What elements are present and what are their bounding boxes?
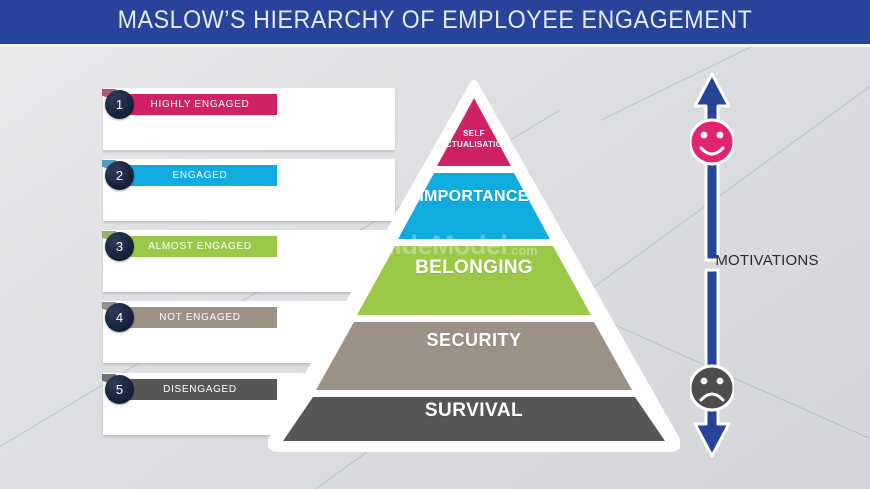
engagement-ribbon: HIGHLY ENGAGED1 — [109, 94, 277, 115]
pyramid-level-shape-4 — [316, 322, 632, 390]
page-title: MASLOW’S HIERARCHY OF EMPLOYEE ENGAGEMEN… — [30, 6, 839, 35]
engagement-row-label: NOT ENGAGED — [145, 312, 240, 323]
engagement-row-label: DISENGAGED — [149, 384, 237, 395]
arrow-down-icon — [695, 270, 729, 456]
engagement-row-label: HIGHLY ENGAGED — [137, 99, 250, 110]
engagement-row-number-badge: 2 — [105, 161, 134, 190]
slide-canvas: MASLOW’S HIERARCHY OF EMPLOYEE ENGAGEMEN… — [0, 0, 870, 489]
title-underline — [0, 44, 870, 47]
pyramid-level-belonging — [357, 246, 591, 315]
sad-face-icon — [690, 366, 734, 410]
engagement-row-number-badge: 3 — [105, 232, 134, 261]
engagement-ribbon: NOT ENGAGED4 — [109, 307, 277, 328]
engagement-row-label: ALMOST ENGAGED — [134, 241, 252, 252]
happy-face-icon — [690, 120, 734, 164]
engagement-row-number-badge: 4 — [105, 303, 134, 332]
engagement-ribbon: ENGAGED2 — [109, 165, 277, 186]
engagement-row-number-badge: 5 — [105, 375, 134, 404]
pyramid-level-security — [316, 322, 632, 390]
maslow-pyramid: SELF ACTUALISATION IMPORTANCE BELONGING … — [268, 80, 680, 452]
engagement-row-label: ENGAGED — [159, 170, 228, 181]
engagement-ribbon: ALMOST ENGAGED3 — [109, 236, 277, 257]
engagement-ribbon: DISENGAGED5 — [109, 379, 277, 400]
motivations-label: MOTIVATIONS — [652, 252, 870, 269]
pyramid-level-shape-3 — [357, 246, 591, 315]
pyramid-level-shape-5 — [283, 397, 665, 441]
arrow-down-group — [695, 270, 729, 456]
title-bar: MASLOW’S HIERARCHY OF EMPLOYEE ENGAGEMEN… — [0, 0, 870, 44]
engagement-row-number-badge: 1 — [105, 90, 134, 119]
pyramid-svg — [268, 80, 680, 452]
arrow-up-group — [695, 74, 729, 260]
pyramid-level-survival — [283, 397, 665, 441]
arrow-up-icon — [695, 74, 729, 260]
